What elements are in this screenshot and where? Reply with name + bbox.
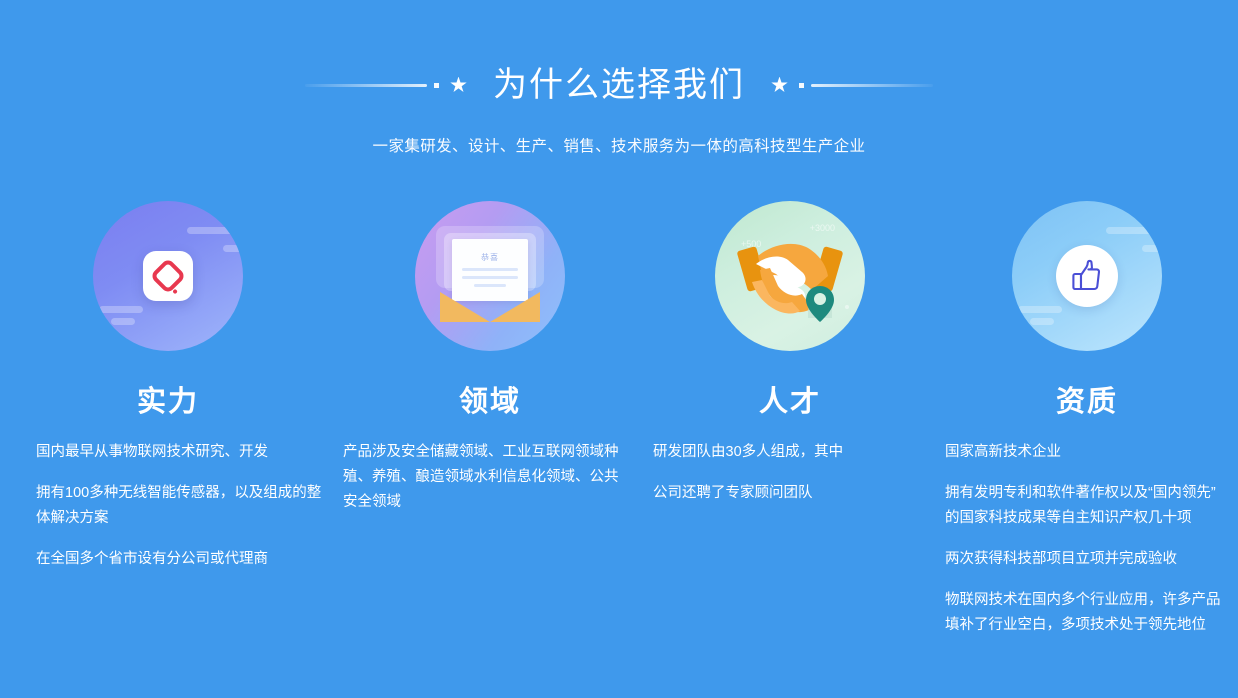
feature-column-talent: +3000 +500 +20: [644, 196, 936, 654]
thumbs-up-icon: [1012, 201, 1162, 351]
column-title-field: 领域: [336, 378, 644, 420]
bullet-item: 拥有100多种无线智能传感器，以及组成的整体解决方案: [36, 481, 322, 531]
thumb-disc: [1056, 245, 1118, 307]
letter-line: [474, 284, 506, 287]
thumbs-up-glyph-icon: [1070, 259, 1104, 293]
streak-decor: [1106, 227, 1152, 234]
streak-decor: [1018, 306, 1062, 313]
icon-wrap: [936, 196, 1238, 356]
diamond-glyph-icon: [150, 258, 187, 295]
page-subtitle: 一家集研发、设计、生产、销售、技术服务为一体的高科技型生产企业: [0, 134, 1238, 156]
bullet-item: 研发团队由30多人组成，其中: [653, 440, 916, 465]
letter-title: 恭喜: [452, 252, 528, 263]
column-title-qualification: 资质: [936, 378, 1238, 420]
icon-wrap: [0, 196, 336, 356]
column-title-talent: 人才: [644, 378, 936, 420]
bullet-item: 产品涉及安全储藏领域、工业互联网领域种殖、养殖、酿造领域水利信息化领域、公共安全…: [343, 440, 630, 515]
page-title: 为什么选择我们: [471, 62, 767, 108]
bullet-item: 拥有发明专利和软件著作权以及“国内领先”的国家科技成果等自主知识产权几十项: [945, 481, 1224, 531]
section-header: 为什么选择我们 一家集研发、设计、生产、销售、技术服务为一体的高科技型生产企业: [0, 0, 1238, 156]
badge-tile: [143, 251, 193, 301]
bullet-item: 国内最早从事物联网技术研究、开发: [36, 440, 322, 465]
feature-columns: 实力 国内最早从事物联网技术研究、开发 拥有100多种无线智能传感器，以及组成的…: [0, 196, 1238, 654]
feature-column-strength: 实力 国内最早从事物联网技术研究、开发 拥有100多种无线智能传感器，以及组成的…: [0, 196, 336, 654]
column-bullets-qualification: 国家高新技术企业 拥有发明专利和软件著作权以及“国内领先”的国家科技成果等自主知…: [936, 440, 1238, 638]
deco-dot-icon: [434, 83, 439, 88]
decoration-right: [767, 77, 933, 94]
feature-column-field: 恭喜 领域 产品涉及安全储藏领域、工业互联网领域种殖、养殖、酿造领域水利信息化领…: [336, 196, 644, 654]
icon-wrap: +3000 +500 +20: [644, 196, 936, 356]
star-icon: [450, 77, 467, 94]
streak-decor: [111, 318, 135, 325]
letter-line: [462, 276, 518, 279]
streak-decor: [187, 227, 233, 234]
bullet-item: 物联网技术在国内多个行业应用，许多产品填补了行业空白，多项技术处于领先地位: [945, 588, 1224, 638]
star-icon: [771, 77, 788, 94]
bullet-item: 公司还聘了专家顾问团队: [653, 481, 916, 506]
streak-decor: [223, 245, 243, 252]
handshake-glyph-icon: [732, 230, 848, 322]
envelope-letter-icon: 恭喜: [415, 201, 565, 351]
letter-line: [462, 268, 518, 271]
bullet-item: 两次获得科技部项目立项并完成验收: [945, 547, 1224, 572]
deco-line-icon: [305, 84, 427, 87]
diamond-badge-icon: [93, 201, 243, 351]
title-row: 为什么选择我们: [0, 62, 1238, 108]
handshake-location-icon: +3000 +500 +20: [715, 201, 865, 351]
column-bullets-talent: 研发团队由30多人组成，其中 公司还聘了专家顾问团队: [644, 440, 936, 506]
envelope-flap: [440, 292, 540, 322]
icon-wrap: 恭喜: [336, 196, 644, 356]
feature-column-qualification: 资质 国家高新技术企业 拥有发明专利和软件著作权以及“国内领先”的国家科技成果等…: [936, 196, 1238, 654]
why-choose-us-section: 为什么选择我们 一家集研发、设计、生产、销售、技术服务为一体的高科技型生产企业: [0, 0, 1238, 698]
streak-decor: [99, 306, 143, 313]
bullet-item: 国家高新技术企业: [945, 440, 1224, 465]
streak-decor: [1142, 245, 1162, 252]
envelope-glyph: 恭喜: [432, 226, 548, 326]
column-bullets-field: 产品涉及安全储藏领域、工业互联网领域种殖、养殖、酿造领域水利信息化领域、公共安全…: [336, 440, 644, 515]
column-bullets-strength: 国内最早从事物联网技术研究、开发 拥有100多种无线智能传感器，以及组成的整体解…: [0, 440, 336, 572]
bullet-item: 在全国多个省市设有分公司或代理商: [36, 547, 322, 572]
deco-line-icon: [811, 84, 933, 87]
column-title-strength: 实力: [0, 378, 336, 420]
deco-dot-icon: [799, 83, 804, 88]
decoration-left: [305, 77, 471, 94]
streak-decor: [1030, 318, 1054, 325]
